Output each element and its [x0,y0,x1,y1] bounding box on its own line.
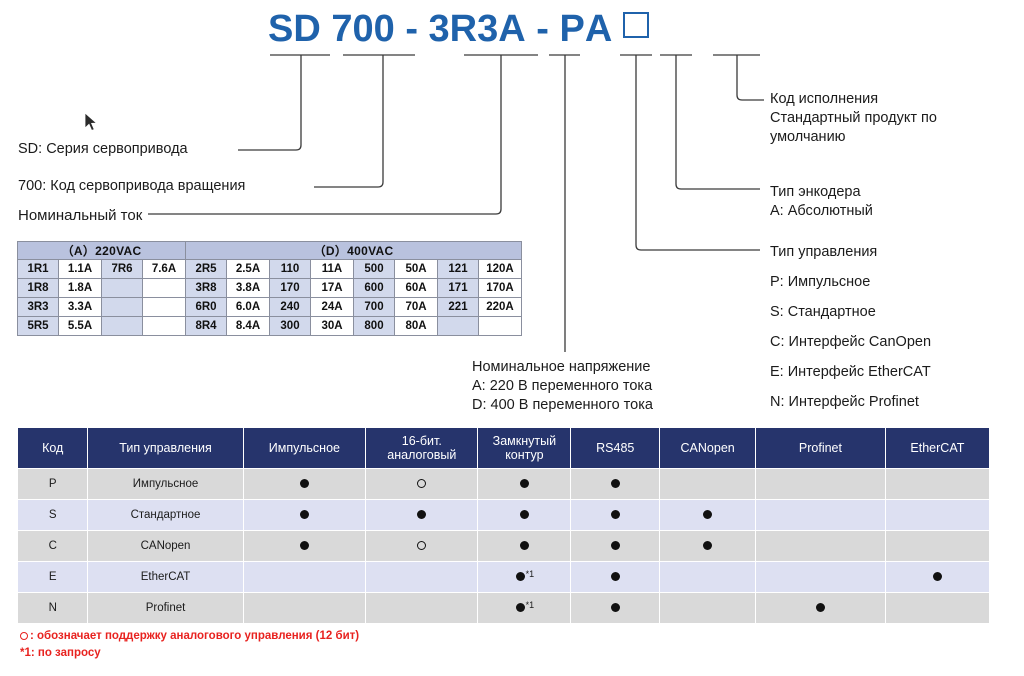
feature-cell: *1 [478,562,570,592]
model-code-seg-p: P [560,8,585,51]
feature-row-type: Импульсное [88,469,242,499]
filled-circle-icon [520,510,529,519]
feature-cell [571,562,659,592]
rating-cell [102,279,143,298]
label-voltage-400: D: 400 В переменного тока [472,396,653,415]
model-code-exec-box [623,12,649,38]
filled-circle-icon [300,479,309,488]
filled-circle-icon [520,541,529,550]
rating-cell: 6.0A [227,298,270,317]
rating-cell: 1.8A [59,279,102,298]
rating-row: 1R11.1A7R67.6A2R52.5A11011A50050A121120A [18,260,522,279]
rating-cell: 2R5 [186,260,227,279]
open-circle-icon [417,479,426,488]
filled-circle-icon [611,479,620,488]
feature-cell [756,562,885,592]
feature-row-type: EtherCAT [88,562,242,592]
label-voltage-block: Номинальное напряжение A: 220 В переменн… [472,358,653,415]
label-control-option-e: E: Интерфейс EtherCAT [770,363,931,382]
rating-cell: 80A [395,317,438,336]
model-code-seg-a-voltage: A [498,8,525,51]
rating-cell: 110 [270,260,311,279]
feature-row-type: Стандартное [88,500,242,530]
table-row: EEtherCAT*1 [18,562,989,592]
footnotes: : обозначает поддержку аналогового управ… [20,628,359,662]
model-code-seg-700: 700 [331,8,394,51]
feature-cell [244,593,366,623]
feature-row-code: C [18,531,87,561]
rating-cell: 3R8 [186,279,227,298]
label-control-block: Тип управления P: Импульсное S: Стандарт… [770,243,931,412]
footnote-marker: *1 [526,600,535,610]
feature-cell [571,500,659,530]
rating-cell [143,317,186,336]
model-code-seg-a-encoder: A [585,8,612,51]
feature-table-header-cell: Импульсное [244,428,366,468]
rating-cell: 220A [479,298,522,317]
feature-cell [366,531,477,561]
rating-cell [479,317,522,336]
rating-cell: 1.1A [59,260,102,279]
model-code-dash-2: - [536,8,549,50]
model-code: SD 700 - 3R3A - PA [268,8,649,51]
feature-cell [886,500,989,530]
footnote-open-circle-text: : обозначает поддержку аналогового управ… [30,630,359,642]
rating-cell: 500 [354,260,395,279]
feature-cell [660,562,755,592]
feature-cell [756,531,885,561]
leader-sd [238,55,301,150]
open-circle-icon [20,632,28,640]
model-code-seg-3r3: 3R3 [429,8,499,51]
label-control-option-s: S: Стандартное [770,303,931,322]
label-encoder-title: Тип энкодера [770,183,873,202]
feature-cell [478,531,570,561]
feature-table: КодТип управленияИмпульсное16-бит.аналог… [17,427,990,624]
rating-cell: 1R1 [18,260,59,279]
rating-cell: 300 [270,317,311,336]
feature-cell [660,500,755,530]
feature-table-header-cell: RS485 [571,428,659,468]
label-control-option-n: N: Интерфейс Profinet [770,393,931,412]
feature-cell [571,531,659,561]
feature-row-code: E [18,562,87,592]
filled-circle-icon [300,510,309,519]
feature-cell [886,562,989,592]
rating-cell: 170A [479,279,522,298]
rating-cell: 24A [311,298,354,317]
filled-circle-icon [611,572,620,581]
feature-cell [244,562,366,592]
rating-table-wrapper: （A）220VAC（D）400VAC1R11.1A7R67.6A2R52.5A1… [17,241,522,336]
rating-header-400vac: （D）400VAC [186,242,522,260]
table-row: NProfinet*1 [18,593,989,623]
rating-cell: 1R8 [18,279,59,298]
mouse-cursor-icon [84,112,100,134]
rating-cell: 2.5A [227,260,270,279]
rating-cell: 50A [395,260,438,279]
rating-cell: 3.8A [227,279,270,298]
table-row: SСтандартное [18,500,989,530]
rating-row: 3R33.3A6R06.0A24024A70070A221220A [18,298,522,317]
rating-cell: 171 [438,279,479,298]
label-exec-code-line2: Стандартный продукт по [770,109,937,128]
rating-cell: 8R4 [186,317,227,336]
rating-cell: 6R0 [186,298,227,317]
rating-cell [102,298,143,317]
label-control-option-p: P: Импульсное [770,273,931,292]
filled-circle-icon [520,479,529,488]
footnote-open-circle: : обозначает поддержку аналогового управ… [20,628,359,645]
label-encoder-absolute: A: Абсолютный [770,202,873,221]
rating-row: 5R55.5A8R48.4A30030A80080A [18,317,522,336]
leader-encoder [676,55,760,189]
rating-table: （A）220VAC（D）400VAC1R11.1A7R67.6A2R52.5A1… [17,241,522,336]
rating-cell: 700 [354,298,395,317]
filled-circle-icon [417,510,426,519]
feature-cell [886,531,989,561]
feature-table-header-cell: EtherCAT [886,428,989,468]
label-rated-current: Номинальный ток [18,207,142,224]
rating-cell: 60A [395,279,438,298]
feature-cell [478,469,570,499]
table-row: CCANopen [18,531,989,561]
model-code-dash-1: - [405,8,418,50]
filled-circle-icon [703,510,712,519]
label-exec-code-line3: умолчанию [770,128,937,147]
feature-table-header-row: КодТип управленияИмпульсное16-бит.аналог… [18,428,989,468]
label-exec-code-block: Код исполнения Стандартный продукт по ум… [770,90,937,147]
leader-exec [737,55,764,100]
filled-circle-icon [703,541,712,550]
label-exec-code-title: Код исполнения [770,90,937,109]
feature-cell [660,531,755,561]
feature-cell [244,531,366,561]
feature-cell [244,500,366,530]
footnote-marker: *1 [526,569,535,579]
rating-cell: 7R6 [102,260,143,279]
label-series: SD: Серия сервопривода [18,141,188,157]
model-code-seg-sd: SD [268,8,321,51]
footnote-star1: *1: по запросу [20,645,359,662]
label-rotary-code: 700: Код сервопривода вращения [18,178,245,194]
feature-table-header-cell: Замкнутыйконтур [478,428,570,468]
rating-cell: 221 [438,298,479,317]
rating-cell: 3.3A [59,298,102,317]
feature-cell: *1 [478,593,570,623]
filled-circle-icon [516,603,525,612]
feature-row-code: S [18,500,87,530]
label-control-title: Тип управления [770,243,931,262]
filled-circle-icon [816,603,825,612]
feature-cell [756,593,885,623]
feature-cell [660,469,755,499]
feature-row-type: Profinet [88,593,242,623]
rating-cell: 240 [270,298,311,317]
rating-row: 1R81.8A3R83.8A17017A60060A171170A [18,279,522,298]
rating-cell: 17A [311,279,354,298]
feature-cell [571,593,659,623]
table-row: PИмпульсное [18,469,989,499]
feature-cell [571,469,659,499]
rating-cell [143,298,186,317]
open-circle-icon [417,541,426,550]
feature-table-header-cell: Код [18,428,87,468]
rating-cell [143,279,186,298]
rating-cell: 30A [311,317,354,336]
label-encoder-block: Тип энкодера A: Абсолютный [770,183,873,221]
rating-cell: 121 [438,260,479,279]
rating-cell [102,317,143,336]
feature-cell [366,593,477,623]
rating-cell: 800 [354,317,395,336]
label-voltage-title: Номинальное напряжение [472,358,653,377]
rating-cell: 11A [311,260,354,279]
filled-circle-icon [611,541,620,550]
rating-header-220vac: （A）220VAC [18,242,186,260]
feature-cell [886,593,989,623]
rating-header-row: （A）220VAC（D）400VAC [18,242,522,260]
rating-cell: 5.5A [59,317,102,336]
filled-circle-icon [516,572,525,581]
feature-cell [366,562,477,592]
feature-table-header-cell: Тип управления [88,428,242,468]
diagram-page: SD 700 - 3R3A - PA [0,0,1024,676]
rating-cell: 3R3 [18,298,59,317]
feature-cell [244,469,366,499]
rating-cell [438,317,479,336]
feature-cell [366,469,477,499]
leader-control [636,55,760,250]
feature-table-header-cell: 16-бит.аналоговый [366,428,477,468]
feature-row-code: P [18,469,87,499]
leader-700 [314,55,383,187]
rating-cell: 5R5 [18,317,59,336]
rating-cell: 7.6A [143,260,186,279]
feature-cell [756,469,885,499]
feature-cell [886,469,989,499]
filled-circle-icon [611,603,620,612]
label-voltage-220: A: 220 В переменного тока [472,377,653,396]
rating-cell: 8.4A [227,317,270,336]
feature-row-type: CANopen [88,531,242,561]
feature-table-header-cell: Profinet [756,428,885,468]
feature-cell [478,500,570,530]
label-control-option-c: C: Интерфейс CanOpen [770,333,931,352]
rating-cell: 70A [395,298,438,317]
filled-circle-icon [933,572,942,581]
rating-cell: 120A [479,260,522,279]
rating-cell: 170 [270,279,311,298]
feature-cell [660,593,755,623]
feature-table-header-cell: CANopen [660,428,755,468]
feature-cell [366,500,477,530]
filled-circle-icon [300,541,309,550]
feature-cell [756,500,885,530]
feature-row-code: N [18,593,87,623]
filled-circle-icon [611,510,620,519]
rating-cell: 600 [354,279,395,298]
